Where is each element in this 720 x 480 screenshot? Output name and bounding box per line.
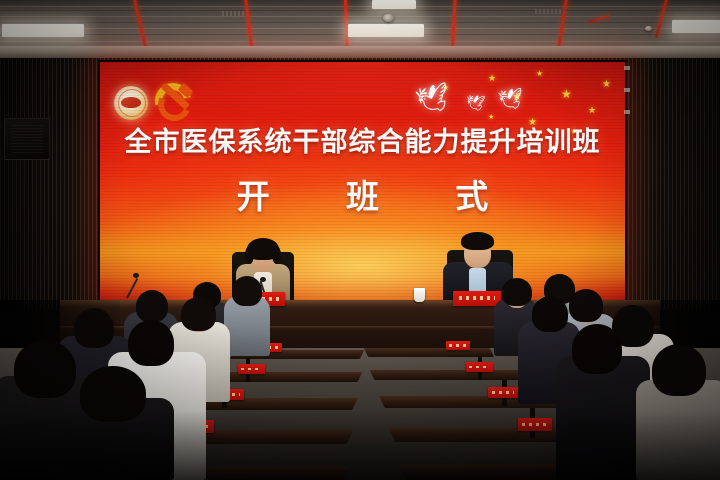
audience-desk (370, 370, 525, 380)
nameplate (466, 362, 493, 372)
smoke-detector-icon (383, 14, 394, 22)
led-backdrop-screen: ★ ★ ★ ★ ★ ★ ★ ★ ★ ★ 🕊 🕊 🕊 全市医保系统干部综合能力提升… (98, 60, 627, 302)
screen-surface: ★ ★ ★ ★ ★ ★ ★ ★ ★ ★ 🕊 🕊 🕊 全市医保系统干部综合能力提升… (100, 62, 625, 300)
paper-cup (414, 288, 425, 302)
ceiling-light-panel (372, 0, 416, 9)
medical-insurance-logo-icon (114, 86, 148, 120)
nameplate (446, 341, 470, 350)
star-icon: ★ (602, 80, 611, 90)
air-vent (535, 9, 563, 14)
person-hair (461, 232, 494, 250)
wall-speaker (4, 118, 50, 160)
dove-icon: 🕊 (497, 89, 524, 112)
nameplate (518, 418, 552, 431)
nameplate (453, 291, 501, 306)
nameplate (238, 364, 265, 374)
dove-icon: 🕊 (414, 83, 453, 117)
smoke-detector-icon (645, 26, 652, 31)
audience-desk (364, 348, 494, 357)
star-icon: ★ (536, 70, 543, 78)
star-icon: ★ (488, 74, 496, 83)
ceiling-light-panel (672, 20, 720, 33)
air-vent (222, 11, 244, 16)
microphone-head (260, 277, 266, 282)
banner-subtitle: 开 班 式 (100, 170, 625, 218)
ceiling-light-panel (2, 24, 84, 37)
conference-hall-photo: ★ ★ ★ ★ ★ ★ ★ ★ ★ ★ 🕊 🕊 🕊 全市医保系统干部综合能力提升… (0, 0, 720, 480)
ceiling-light-panel (348, 24, 424, 37)
star-icon: ★ (561, 88, 572, 100)
dove-icon: 🕊 (466, 95, 486, 111)
banner-title: 全市医保系统干部综合能力提升培训班 (100, 120, 625, 159)
audience-desk (208, 372, 363, 382)
nameplate (488, 387, 518, 398)
microphone-head (133, 273, 139, 278)
star-icon: ★ (588, 106, 596, 115)
